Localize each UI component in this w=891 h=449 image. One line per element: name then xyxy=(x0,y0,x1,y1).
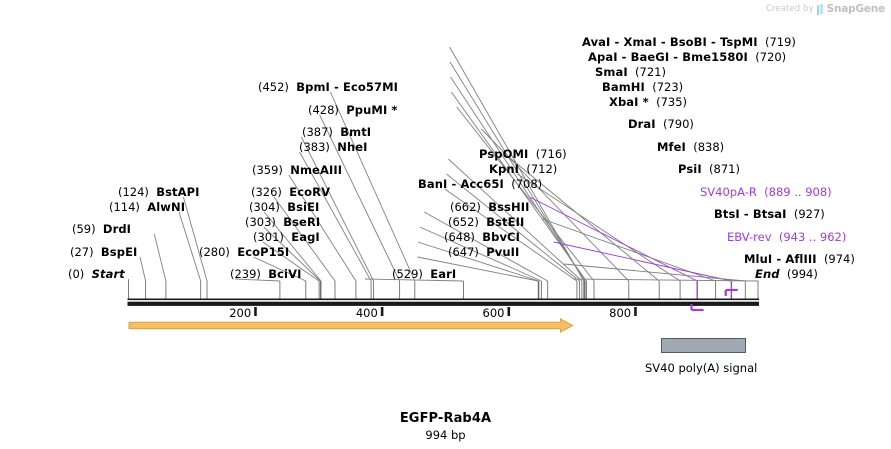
site-position-bamhi: (723) xyxy=(652,80,683,94)
site-label-sv40par[interactable]: SV40pA-R (889 .. 908) xyxy=(700,186,832,199)
ruler-tick-label-600: 600 xyxy=(472,306,504,320)
site-position-nmeaiii: (359) xyxy=(252,163,283,177)
site-label-ppumi[interactable]: (428) PpuMI * xyxy=(308,104,398,117)
site-label-pspomi[interactable]: PspOMI (716) xyxy=(479,148,567,161)
site-name-sv40par: SV40pA-R xyxy=(700,185,757,199)
label-gap xyxy=(787,207,794,221)
site-position-smai: (721) xyxy=(635,65,666,79)
label-gap xyxy=(628,65,635,79)
site-label-bmti[interactable]: (387) BmtI xyxy=(302,126,371,139)
site-label-ebvrev[interactable]: EBV-rev (943 .. 962) xyxy=(727,231,846,244)
site-name-bstapi: BstAPI xyxy=(156,185,199,199)
site-name-pvuii: PvuII xyxy=(486,245,519,259)
site-position-bstei: (652) xyxy=(448,215,479,229)
site-name-bsiei: BsiEI xyxy=(287,200,319,214)
site-name-end: End xyxy=(755,267,780,281)
site-position-bseri: (303) xyxy=(245,215,276,229)
site-label-bani[interactable]: BanI - Acc65I (708) xyxy=(418,178,542,191)
site-label-smai[interactable]: SmaI (721) xyxy=(595,66,666,79)
site-name-mfei: MfeI xyxy=(657,140,686,154)
site-label-btsi[interactable]: BtsI - BtsaI (927) xyxy=(714,208,825,221)
site-position-ecop15i: (280) xyxy=(199,245,230,259)
site-name-bcivi: BciVI xyxy=(268,267,301,281)
site-position-psii: (871) xyxy=(709,162,740,176)
site-name-apai: ApaI - BaeGI - Bme1580I xyxy=(588,50,748,64)
site-label-bamhi[interactable]: BamHI (723) xyxy=(602,81,683,94)
legend-feature-swatch xyxy=(661,338,746,353)
site-position-bstapi: (124) xyxy=(118,185,149,199)
site-position-sv40par: (889 .. 908) xyxy=(764,185,832,199)
site-name-nhei: NheI xyxy=(337,140,367,154)
site-label-pvuii[interactable]: (647) PvuII xyxy=(448,246,519,259)
site-name-pspomi: PspOMI xyxy=(479,147,528,161)
label-gap xyxy=(94,245,101,259)
site-position-bbvci: (648) xyxy=(444,230,475,244)
site-name-alwni: AlwNI xyxy=(147,200,185,214)
site-name-smai: SmaI xyxy=(595,65,628,79)
plasmid-title: EGFP-Rab4A xyxy=(0,411,891,426)
site-position-bani: (708) xyxy=(511,177,542,191)
site-name-avai: AvaI - XmaI - BsoBI - TspMI xyxy=(582,35,758,49)
site-label-bseri[interactable]: (303) BseRI xyxy=(245,216,320,229)
site-name-drai: DraI xyxy=(628,117,656,131)
site-position-mlui: (974) xyxy=(824,252,855,266)
site-label-bcivi[interactable]: (239) BciVI xyxy=(230,268,301,281)
plasmid-length-label: 994 bp xyxy=(0,428,891,442)
site-position-xbai: (735) xyxy=(656,95,687,109)
site-label-eari[interactable]: (529) EarI xyxy=(392,268,456,281)
site-name-bseri: BseRI xyxy=(283,215,320,229)
site-label-eagi[interactable]: (301) EagI xyxy=(253,231,320,244)
site-label-mfei[interactable]: MfeI (838) xyxy=(657,141,724,154)
site-name-drdi: DrdI xyxy=(103,222,131,236)
label-gap xyxy=(528,147,535,161)
site-name-bstei: BstEII xyxy=(486,215,524,229)
site-label-bsiei[interactable]: (304) BsiEI xyxy=(249,201,319,214)
site-position-start: (0) xyxy=(68,267,84,281)
site-position-bmti: (387) xyxy=(302,125,333,139)
site-name-kpni: KpnI xyxy=(489,162,519,176)
site-label-bstapi[interactable]: (124) BstAPI xyxy=(118,186,200,199)
label-gap xyxy=(758,35,765,49)
site-label-drdi[interactable]: (59) DrdI xyxy=(72,223,131,236)
site-position-mfei: (838) xyxy=(693,140,724,154)
site-position-bspei: (27) xyxy=(70,245,94,259)
site-position-drdi: (59) xyxy=(72,222,96,236)
label-gap xyxy=(772,230,779,244)
site-label-xbai[interactable]: XbaI * (735) xyxy=(609,96,687,109)
site-label-psii[interactable]: PsiI (871) xyxy=(678,163,740,176)
site-name-psii: PsiI xyxy=(678,162,702,176)
site-label-apai[interactable]: ApaI - BaeGI - Bme1580I (720) xyxy=(588,51,786,64)
label-gap xyxy=(817,252,824,266)
site-position-apai: (720) xyxy=(755,50,786,64)
label-gap xyxy=(96,222,103,236)
site-name-mlui: MluI - AflIII xyxy=(744,252,817,266)
site-label-alwni[interactable]: (114) AlwNI xyxy=(109,201,185,214)
ruler-tick-label-200: 200 xyxy=(219,306,251,320)
site-name-bmti: BmtI xyxy=(340,125,371,139)
site-name-ebvrev: EBV-rev xyxy=(727,230,772,244)
ruler-tick-label-800: 800 xyxy=(599,306,631,320)
site-label-end[interactable]: End (994) xyxy=(755,268,818,281)
site-position-ecorv: (326) xyxy=(251,185,282,199)
site-position-avai: (719) xyxy=(765,35,796,49)
label-gap xyxy=(702,162,709,176)
site-name-eagi: EagI xyxy=(291,230,320,244)
site-position-bpmi: (452) xyxy=(258,80,289,94)
site-label-bsshii[interactable]: (662) BssHII xyxy=(450,201,530,214)
site-label-bpmi[interactable]: (452) BpmI - Eco57MI xyxy=(258,81,398,94)
site-position-bcivi: (239) xyxy=(230,267,261,281)
site-label-nmeaiii[interactable]: (359) NmeAIII xyxy=(252,164,342,177)
label-gap xyxy=(649,95,656,109)
site-position-eari: (529) xyxy=(392,267,423,281)
site-name-xbai: XbaI * xyxy=(609,95,649,109)
site-label-avai[interactable]: AvaI - XmaI - BsoBI - TspMI (719) xyxy=(582,36,796,49)
site-name-ecorv: EcoRV xyxy=(289,185,330,199)
site-name-bpmi: BpmI - Eco57MI xyxy=(296,80,398,94)
site-position-drai: (790) xyxy=(663,117,694,131)
site-position-kpni: (712) xyxy=(526,162,557,176)
site-name-bsshii: BssHII xyxy=(488,200,529,214)
site-label-ecorv[interactable]: (326) EcoRV xyxy=(251,186,330,199)
site-label-bspei[interactable]: (27) BspEI xyxy=(70,246,137,259)
site-label-bbvci[interactable]: (648) BbvCI xyxy=(444,231,520,244)
site-position-eagi: (301) xyxy=(253,230,284,244)
site-name-ppumi: PpuMI * xyxy=(346,103,397,117)
site-position-bsshii: (662) xyxy=(450,200,481,214)
site-position-end: (994) xyxy=(787,267,818,281)
site-label-nhei[interactable]: (383) NheI xyxy=(299,141,368,154)
site-name-nmeaiii: NmeAIII xyxy=(290,163,342,177)
site-label-kpni[interactable]: KpnI (712) xyxy=(489,163,557,176)
site-name-ecop15i: EcoP15I xyxy=(237,245,289,259)
site-position-pvuii: (647) xyxy=(448,245,479,259)
site-label-start[interactable]: (0) Start xyxy=(68,268,125,281)
site-position-ebvrev: (943 .. 962) xyxy=(779,230,847,244)
site-name-bani: BanI - Acc65I xyxy=(418,177,504,191)
site-position-bsiei: (304) xyxy=(249,200,280,214)
site-name-start: Start xyxy=(92,267,125,281)
legend-feature-label: SV40 poly(A) signal xyxy=(645,361,757,375)
site-label-mlui[interactable]: MluI - AflIII (974) xyxy=(744,253,855,266)
site-position-ppumi: (428) xyxy=(308,103,339,117)
label-gap xyxy=(656,117,663,131)
ruler-tick-label-400: 400 xyxy=(346,306,378,320)
site-position-btsi: (927) xyxy=(794,207,825,221)
site-position-alwni: (114) xyxy=(109,200,140,214)
site-label-bstei[interactable]: (652) BstEII xyxy=(448,216,524,229)
site-name-eari: EarI xyxy=(430,267,456,281)
site-position-nhei: (383) xyxy=(299,140,330,154)
site-name-bamhi: BamHI xyxy=(602,80,645,94)
site-name-bspei: BspEI xyxy=(101,245,137,259)
label-gap xyxy=(780,267,787,281)
site-label-drai[interactable]: DraI (790) xyxy=(628,118,694,131)
site-label-ecop15i[interactable]: (280) EcoP15I xyxy=(199,246,289,259)
plasmid-map-graphics xyxy=(0,0,891,449)
site-name-bbvci: BbvCI xyxy=(482,230,520,244)
site-name-btsi: BtsI - BtsaI xyxy=(714,207,787,221)
label-gap xyxy=(84,267,91,281)
site-position-pspomi: (716) xyxy=(536,147,567,161)
